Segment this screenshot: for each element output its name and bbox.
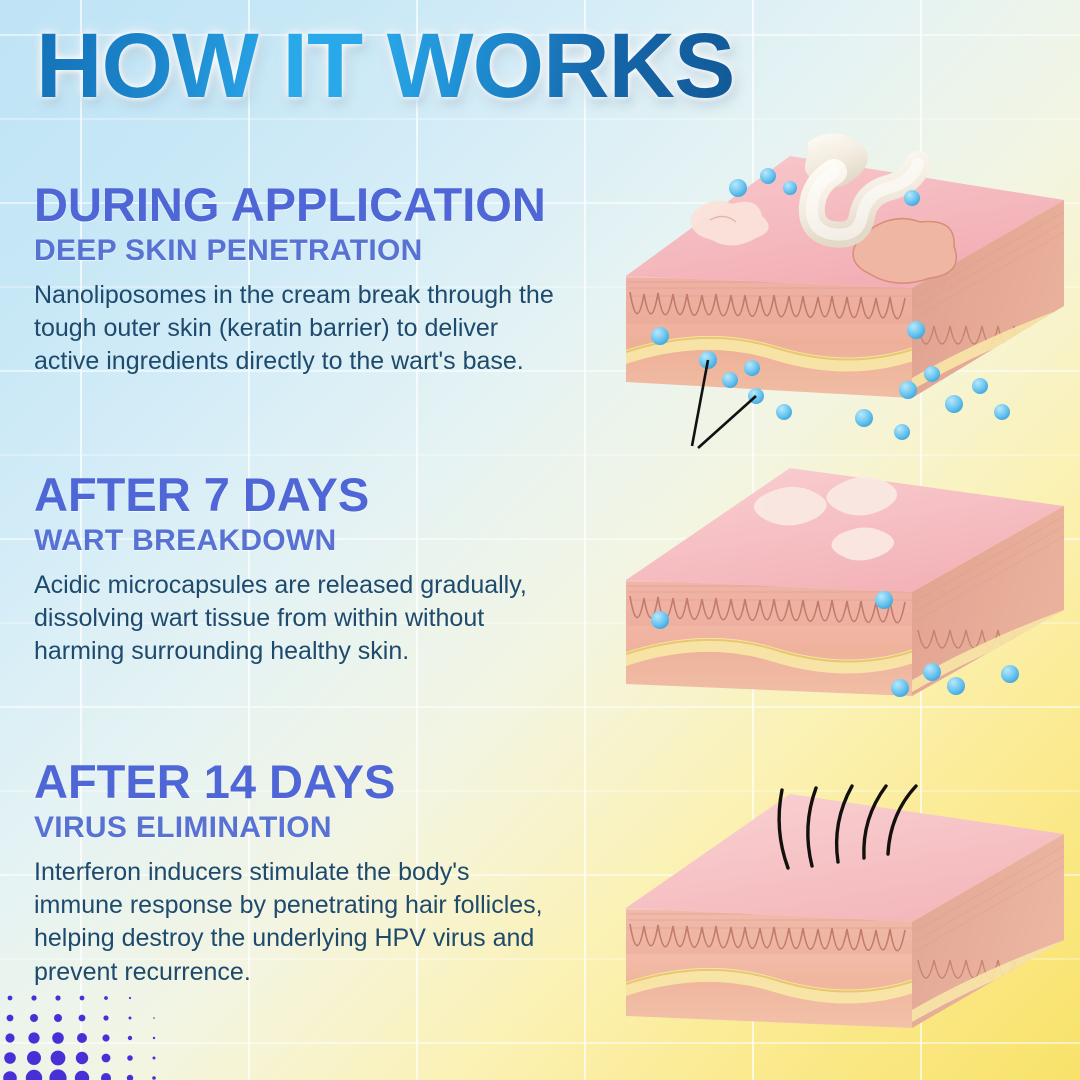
step-subtitle: WART BREAKDOWN — [34, 524, 604, 557]
illustration-column: Odeiun TM HPV GENITAL Cream Warts Relief… — [612, 0, 1080, 1080]
skin-block-after-14-days — [612, 776, 1080, 1036]
step-title: DURING APPLICATION — [34, 180, 604, 230]
step-subtitle: VIRUS ELIMINATION — [34, 811, 604, 844]
step-block-3: AFTER 14 DAYS VIRUS ELIMINATION Interfer… — [34, 757, 604, 989]
infographic-poster: HOW IT WORKS DURING APPLICATION DEEP SKI… — [0, 0, 1080, 1080]
halftone-dots-decoration — [0, 985, 175, 1080]
step-title: AFTER 7 DAYS — [34, 470, 604, 520]
step-subtitle: DEEP SKIN PENETRATION — [34, 234, 604, 267]
step-title: AFTER 14 DAYS — [34, 757, 604, 807]
skin-block-during-application — [612, 128, 1080, 398]
skin-block-after-7-days — [612, 452, 1080, 702]
step-body: Interferon inducers stimulate the body's… — [34, 856, 564, 989]
step-block-1: DURING APPLICATION DEEP SKIN PENETRATION… — [34, 180, 604, 379]
step-body: Nanoliposomes in the cream break through… — [34, 279, 564, 379]
step-block-2: AFTER 7 DAYS WART BREAKDOWN Acidic micro… — [34, 470, 604, 669]
step-body: Acidic microcapsules are released gradua… — [34, 569, 564, 669]
